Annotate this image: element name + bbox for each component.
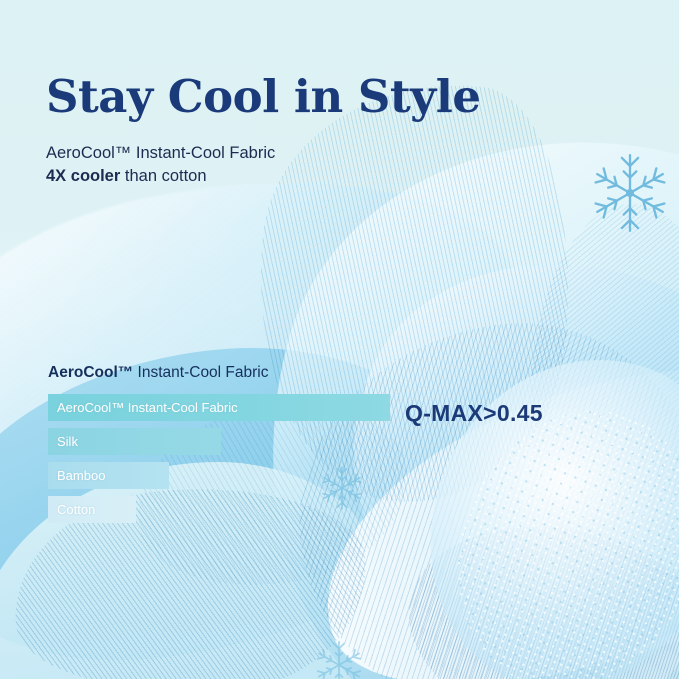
subtitle: AeroCool™ Instant-Cool Fabric 4X cooler … — [46, 142, 275, 188]
bar-aerocool: AeroCool™ Instant-Cool Fabric — [48, 394, 390, 421]
snowflake-icon — [310, 636, 368, 679]
subtitle-emphasis: 4X cooler — [46, 167, 120, 185]
subtitle-rest: than cotton — [120, 167, 206, 185]
chart-title: AeroCool™ Instant-Cool Fabric — [48, 364, 608, 382]
chart-title-rest: Instant-Cool Fabric — [133, 364, 268, 381]
bar-silk: Silk — [48, 428, 221, 455]
bar-label: Silk — [57, 434, 78, 449]
promo-banner: Stay Cool in Style AeroCool™ Instant-Coo… — [0, 0, 679, 679]
chart-title-brand: AeroCool™ — [48, 364, 133, 381]
qmax-callout: Q-MAX>0.45 — [405, 400, 543, 427]
table-row: Bamboo — [48, 462, 608, 489]
bar-label: Cotton — [57, 502, 95, 517]
table-row: Cotton — [48, 496, 608, 523]
subtitle-line-1: AeroCool™ Instant-Cool Fabric — [46, 142, 275, 165]
bar-label: Bamboo — [57, 468, 105, 483]
comparison-chart: AeroCool™ Instant-Cool Fabric AeroCool™ … — [48, 364, 608, 530]
table-row: Silk — [48, 428, 608, 455]
subtitle-line-2: 4X cooler than cotton — [46, 165, 275, 188]
snowflake-icon — [585, 148, 675, 238]
bar-cotton: Cotton — [48, 496, 136, 523]
bar-label: AeroCool™ Instant-Cool Fabric — [57, 400, 238, 415]
bar-bamboo: Bamboo — [48, 462, 169, 489]
page-title: Stay Cool in Style — [46, 70, 481, 123]
